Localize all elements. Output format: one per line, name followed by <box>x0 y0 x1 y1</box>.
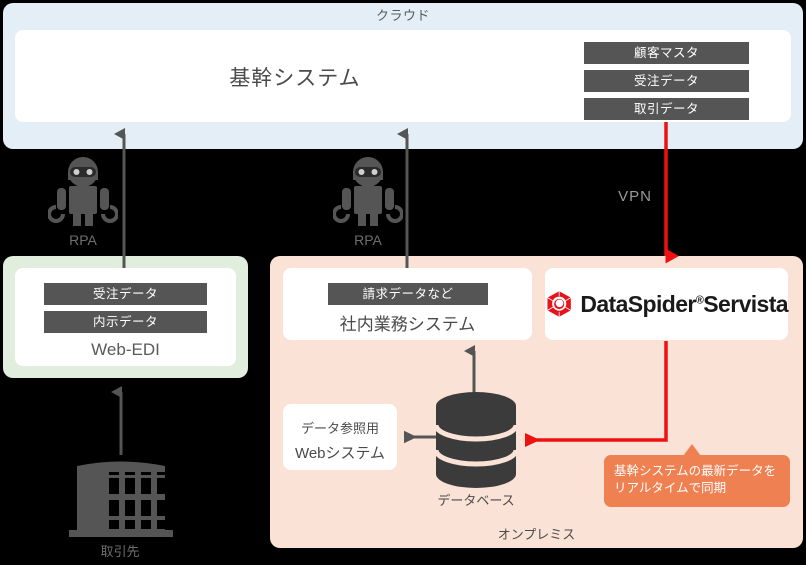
internal-system-title: 社内業務システム <box>283 310 532 335</box>
chip-customer-master[interactable]: 顧客マスタ <box>584 42 749 64</box>
onpremise-region-label: オンプレミス <box>270 524 803 543</box>
chip-billing-data[interactable]: 請求データなど <box>328 283 488 305</box>
partner-label: 取引先 <box>60 541 180 560</box>
vpn-label: VPN <box>560 188 710 205</box>
rpa-label-right: RPA <box>338 232 398 248</box>
dataspider-wordmark: DataSpider®Servista <box>580 291 788 318</box>
database-cylinder-icon <box>430 392 522 488</box>
webedi-title: Web-EDI <box>15 340 236 360</box>
web-reference-line2: Webシステム <box>283 442 397 463</box>
chip-order-data[interactable]: 受注データ <box>584 70 749 92</box>
rpa-label-left: RPA <box>53 232 113 248</box>
web-reference-line1: データ参照用 <box>283 418 397 437</box>
dataspider-logo: DataSpider®Servista <box>545 268 788 340</box>
database-label: データベース <box>400 490 552 509</box>
robot-icon <box>48 156 118 228</box>
sync-callout-line1: 基幹システムの最新データを <box>614 463 780 480</box>
sync-callout-line2: リアルタイムで同期 <box>614 480 780 497</box>
chip-webedi-forecast-data[interactable]: 内示データ <box>44 311 207 333</box>
dataspider-hexagon-icon <box>545 284 573 324</box>
core-system-title: 基幹システム <box>15 62 575 92</box>
office-building-icon <box>63 450 179 540</box>
sync-callout: 基幹システムの最新データを リアルタイムで同期 <box>604 455 790 507</box>
chip-transaction-data[interactable]: 取引データ <box>584 98 749 120</box>
robot-icon <box>333 156 403 228</box>
cloud-region-label: クラウド <box>3 5 803 24</box>
chip-webedi-order-data[interactable]: 受注データ <box>44 283 207 305</box>
architecture-diagram: クラウド オンプレミス VPN <box>0 0 806 565</box>
